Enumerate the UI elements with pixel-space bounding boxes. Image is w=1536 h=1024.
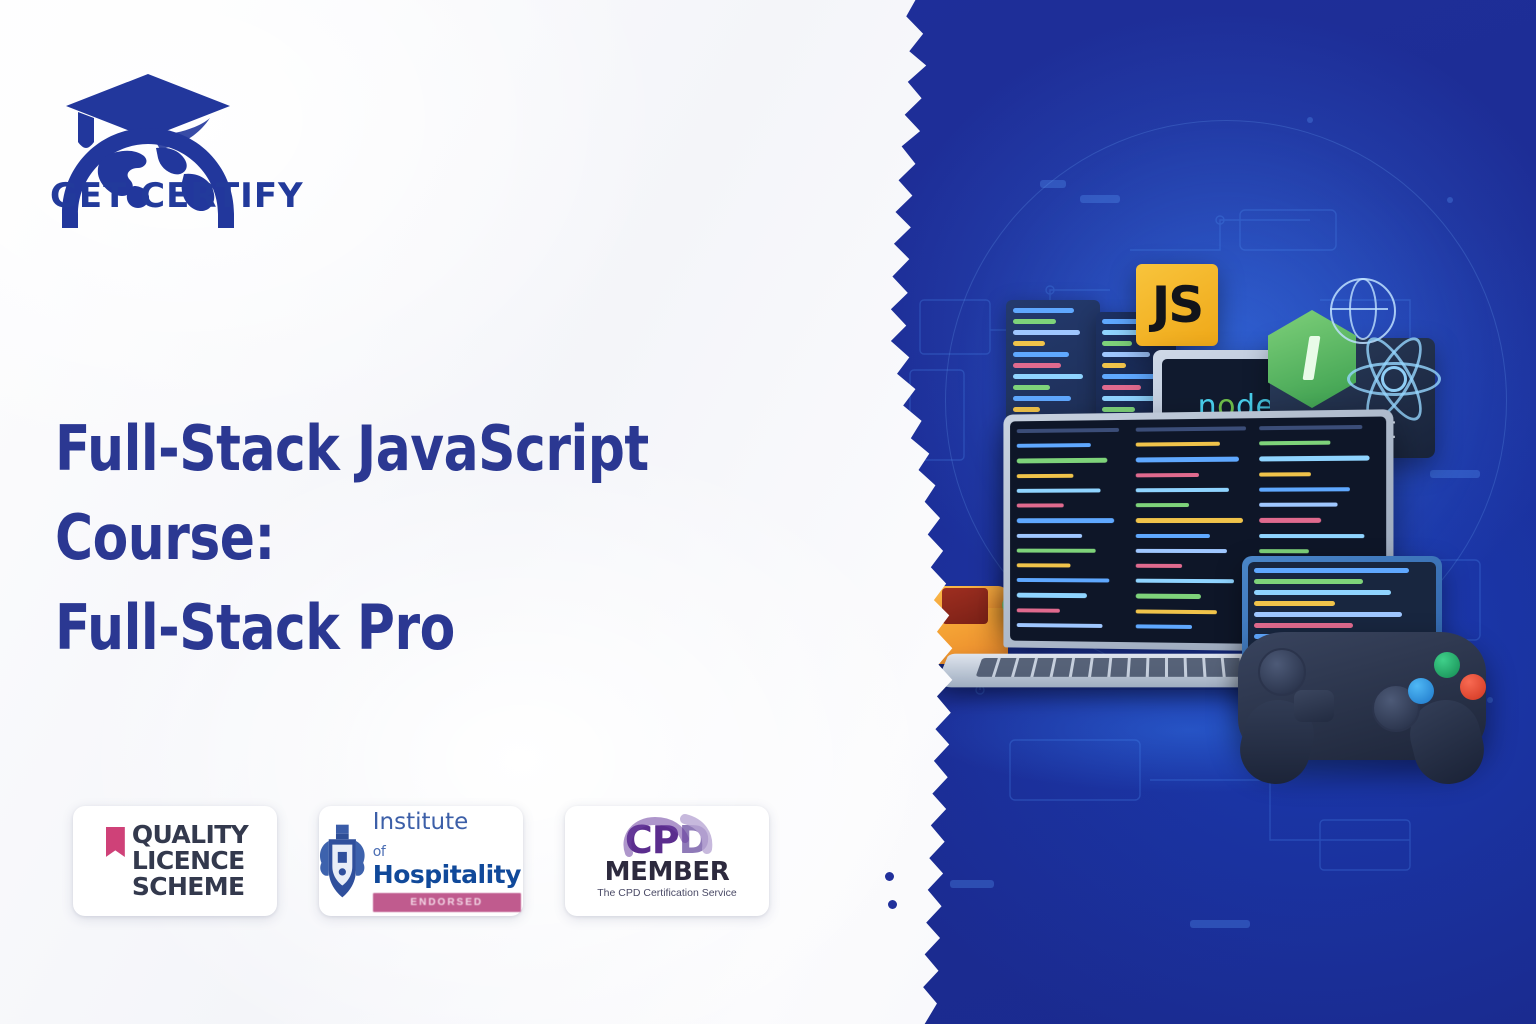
javascript-logo-badge: JS [1136, 264, 1218, 346]
qls-line-1: QUALITY [132, 822, 248, 848]
cpd-service-label: The CPD Certification Service [592, 888, 742, 900]
title-line-2: Full-Stack Pro [55, 583, 855, 672]
torn-speck-1 [885, 872, 894, 881]
badge-quality-licence-scheme[interactable]: QUALITY LICENCE SCHEME [73, 806, 277, 916]
ioh-line-1: Institute [373, 811, 469, 834]
ioh-line-2: of Hospitality [373, 834, 526, 888]
cpd-wordmark: CPD [625, 823, 709, 858]
endorsed-banner: ENDORSED [373, 893, 521, 912]
heraldic-crest-icon [316, 817, 367, 905]
game-controller-icon [1238, 632, 1486, 760]
react-atom-icon [1345, 330, 1437, 422]
tech-illustration: JS node React [890, 0, 1536, 1024]
js-label: JS [1152, 280, 1203, 330]
cpd-swoosh-icon [609, 813, 729, 871]
torn-speck-2 [888, 900, 897, 909]
qls-text: QUALITY LICENCE SCHEME [132, 822, 248, 900]
qls-line-3: SCHEME [132, 874, 248, 900]
page-title: Full-Stack JavaScript Course: Full-Stack… [55, 404, 855, 672]
accreditation-badges: QUALITY LICENCE SCHEME [73, 806, 769, 916]
bookmark-icon [106, 827, 125, 857]
title-line-1: Full-Stack JavaScript Course: [55, 412, 649, 574]
qls-line-2: LICENCE [132, 848, 248, 874]
logo-wordmark: GET CERTIFY [50, 176, 304, 216]
promo-banner: JS node React [0, 0, 1536, 1024]
badge-institute-of-hospitality[interactable]: Institute of Hospitality ENDORSED [319, 806, 523, 916]
badge-cpd-member[interactable]: CPD MEMBER The CPD Certification Service [565, 806, 769, 916]
